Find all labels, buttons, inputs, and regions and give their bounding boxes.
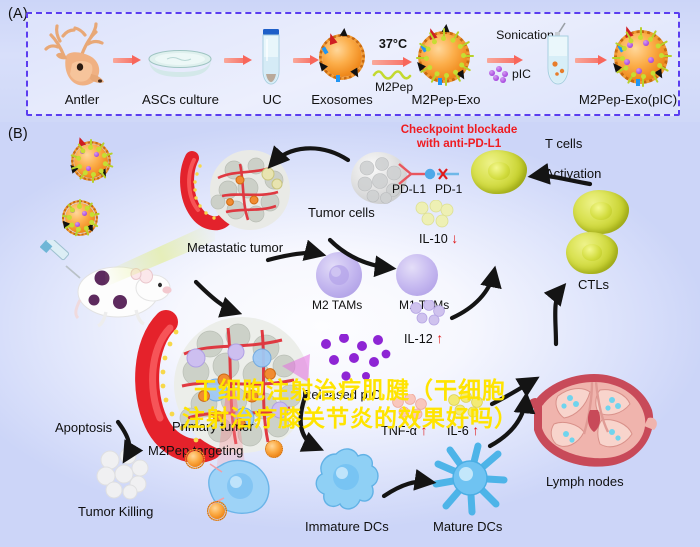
panel-b: (B) <box>0 122 700 547</box>
sonicator-tube-illustration <box>543 22 573 88</box>
m2pep-exosome-pic-particle <box>610 26 672 88</box>
arrow-antler-to-culture <box>113 55 141 65</box>
arrow-pic-to-immaturedc <box>301 394 318 448</box>
ultracentrifuge-tube-illustration <box>258 27 284 87</box>
temperature-label: 37°C <box>372 37 414 51</box>
arrow-primarytumor-to-apoptosis <box>118 422 129 458</box>
antler-deer-illustration <box>42 22 120 88</box>
panel-a: (A) Antler <box>0 0 700 122</box>
pic-cluster-icon <box>489 66 511 82</box>
arrow-lymphnodes-to-ctls <box>555 288 562 344</box>
panel-a-label: (A) <box>8 6 28 22</box>
arrow-activation-to-tcells <box>534 176 590 184</box>
arrow-maturedc-to-lymphnodes <box>490 398 526 446</box>
arrow-overlay <box>0 122 700 547</box>
m2pep-exosome-particle <box>414 27 474 87</box>
uc-label: UC <box>243 92 301 107</box>
m2pep-squiggle-icon <box>372 66 416 80</box>
arrow-tumorcells-to-metastatic <box>272 148 348 164</box>
m2pep-exo-label: M2Pep-Exo <box>404 92 488 107</box>
m2pep-exo-pic-label: M2Pep-Exo(pIC) <box>556 92 700 107</box>
ascs-culture-label: ASCs culture <box>133 92 228 107</box>
pic-label: pIC <box>512 67 542 81</box>
figure-canvas: (A) Antler <box>0 0 700 547</box>
arrow-metastatic-to-primary <box>196 282 236 312</box>
arrow-to-m2pep-exo-pic <box>575 55 607 65</box>
arrow-culture-to-uc <box>224 55 252 65</box>
arrow-tumor-to-m2tam <box>268 253 320 260</box>
petri-dish-illustration <box>145 48 215 82</box>
arrow-to-sonication <box>487 55 523 65</box>
antler-label: Antler <box>36 92 128 107</box>
exosomes-label: Exosomes <box>307 92 377 107</box>
arrow-il12-to-ctls <box>452 272 494 318</box>
arrow-immaturedc-to-maturedc <box>384 482 430 496</box>
exosome-particle <box>316 31 368 83</box>
arrow-m2tam-to-m1tam <box>330 240 390 268</box>
